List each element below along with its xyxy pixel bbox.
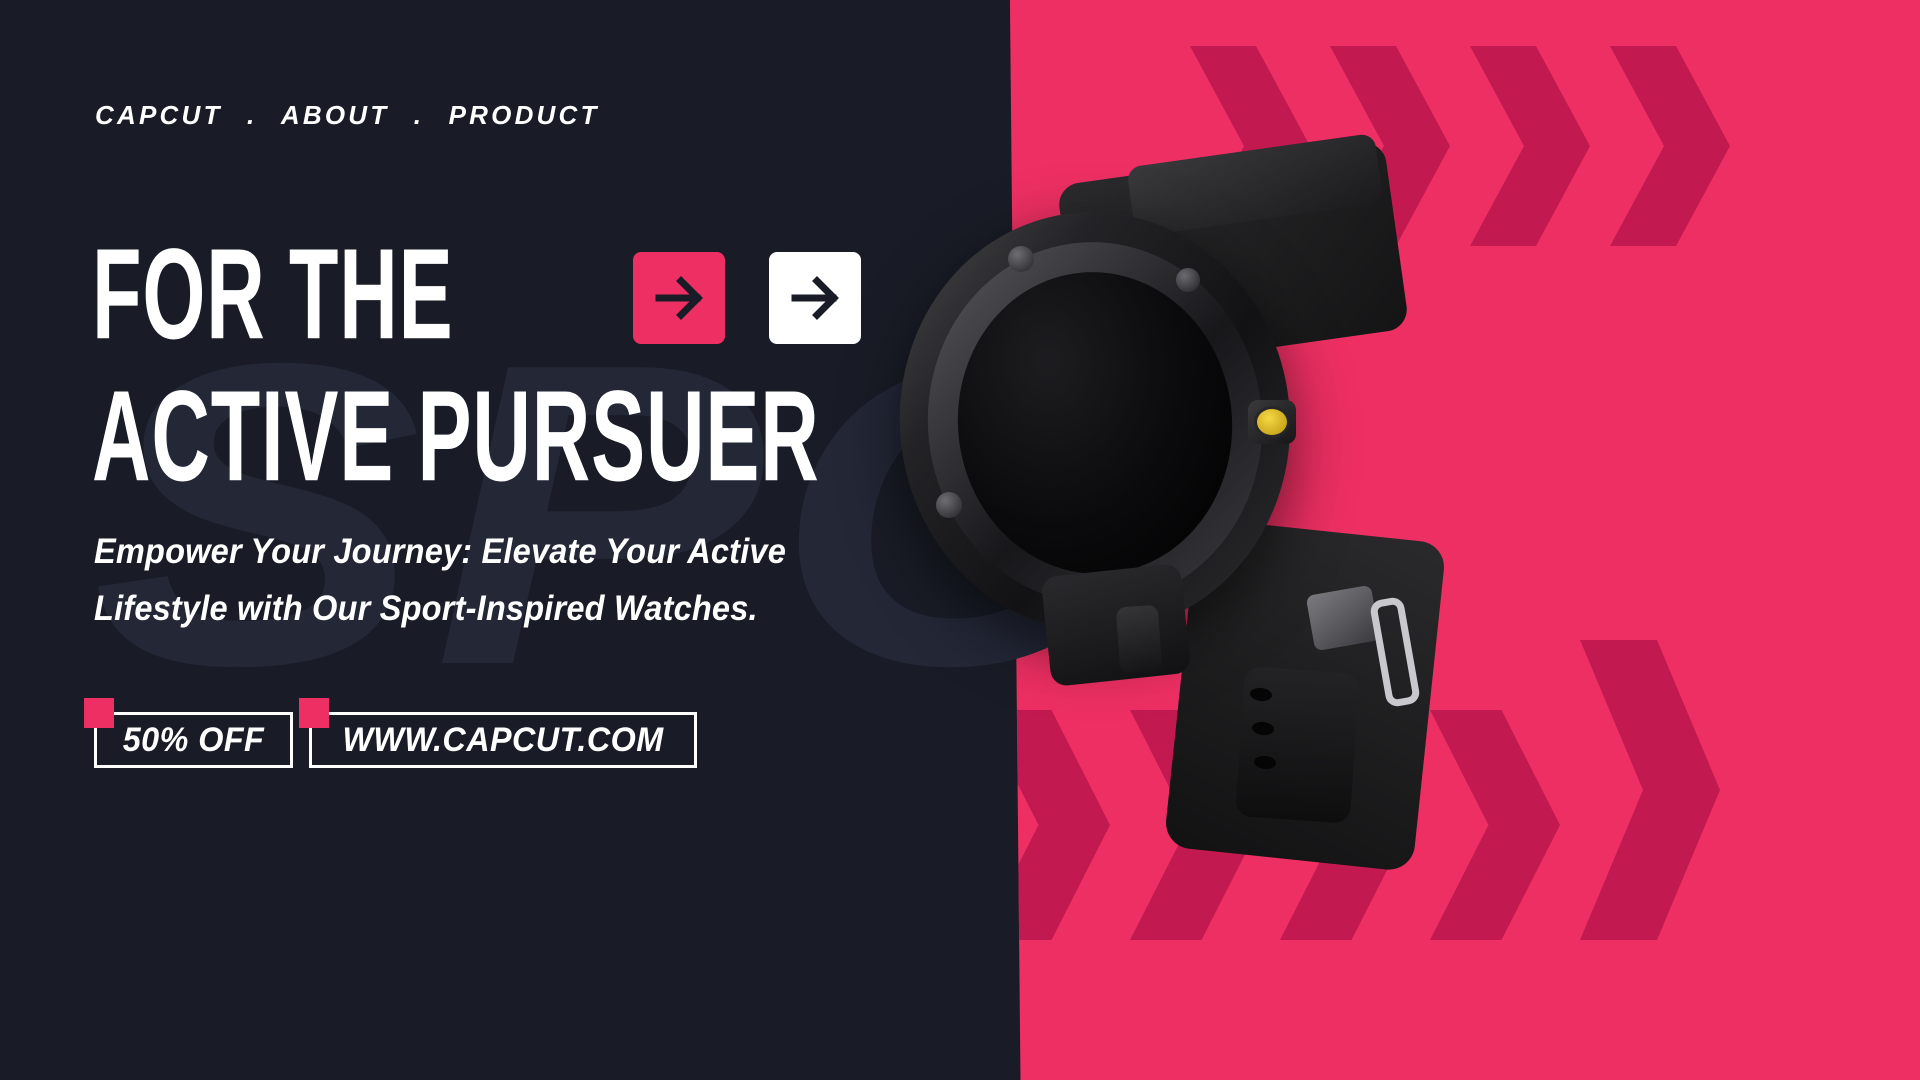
arrow-button-primary[interactable] xyxy=(633,252,725,344)
website-badge-label: WWW.CAPCUT.COM xyxy=(342,721,663,760)
discount-badge-wrapper: 50% OFF xyxy=(94,712,293,768)
headline-line-2: ACTIVE PURSUER xyxy=(92,379,820,498)
subheading-line-1: Empower Your Journey: Elevate Your Activ… xyxy=(94,524,786,581)
badge-corner-square xyxy=(299,698,329,728)
headline-block: FOR THE xyxy=(92,248,1025,486)
promo-banner: SPO CAPCUT xyxy=(0,0,1920,1080)
headline-line-1: FOR THE xyxy=(92,237,453,356)
subheading-text: Empower Your Journey: Elevate Your Activ… xyxy=(94,524,786,637)
nav-separator: . xyxy=(233,100,271,130)
nav-item-product[interactable]: PRODUCT xyxy=(449,100,600,130)
arrow-button-secondary[interactable] xyxy=(769,252,861,344)
badge-row: 50% OFF WWW.CAPCUT.COM xyxy=(94,712,697,768)
badge-corner-square xyxy=(84,698,114,728)
nav-item-capcut[interactable]: CAPCUT xyxy=(95,100,223,130)
subheading-line-2: Lifestyle with Our Sport-Inspired Watche… xyxy=(94,581,786,638)
arrow-right-icon xyxy=(651,270,707,326)
website-badge[interactable]: WWW.CAPCUT.COM xyxy=(309,712,697,768)
discount-badge[interactable]: 50% OFF xyxy=(94,712,293,768)
website-badge-wrapper: WWW.CAPCUT.COM xyxy=(309,712,697,768)
content-column: CAPCUT . ABOUT . PRODUCT FOR THE xyxy=(0,0,1010,1080)
discount-badge-label: 50% OFF xyxy=(123,721,265,760)
top-navigation: CAPCUT . ABOUT . PRODUCT xyxy=(95,100,600,131)
nav-separator: . xyxy=(400,100,438,130)
nav-item-about[interactable]: ABOUT xyxy=(281,100,389,130)
cta-button-group xyxy=(633,252,861,344)
arrow-right-icon xyxy=(787,270,843,326)
